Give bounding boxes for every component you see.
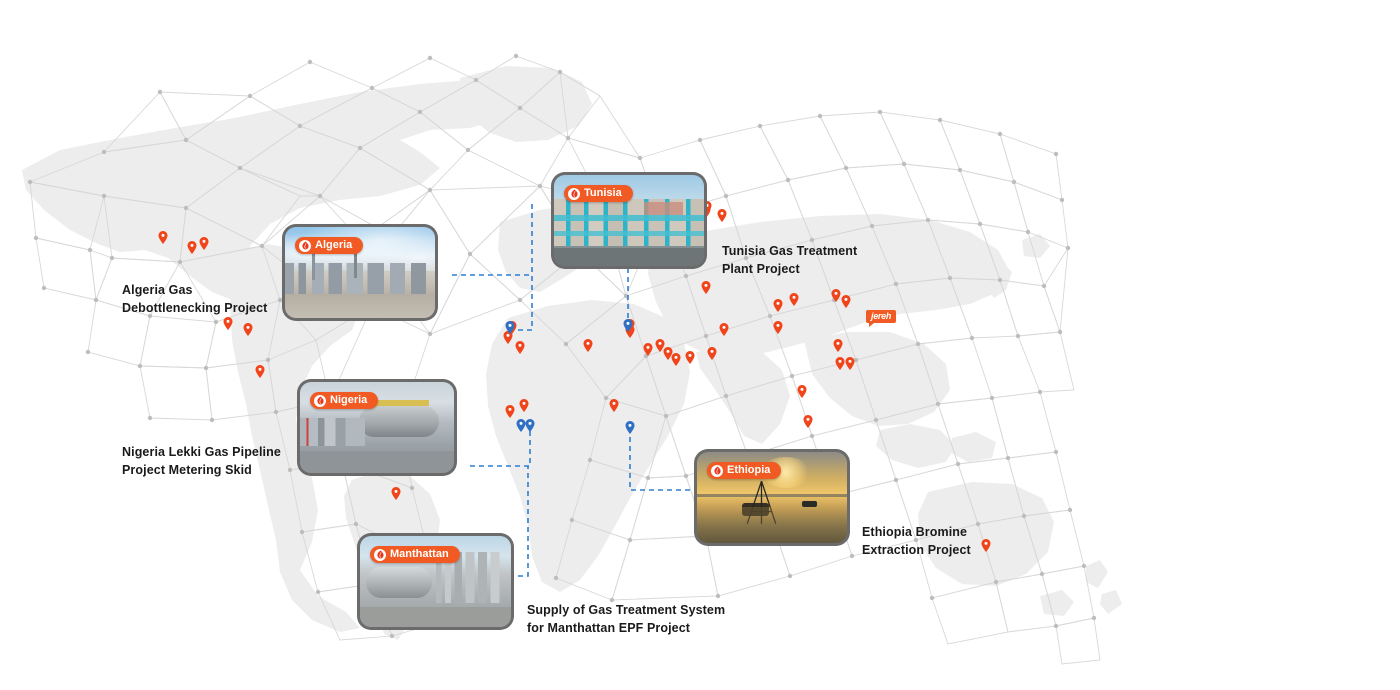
- map-pin-icon[interactable]: [790, 293, 799, 306]
- card-badge-manthattan: Manthattan: [370, 546, 460, 563]
- card-badge-label: Tunisia: [584, 188, 622, 199]
- map-pin-icon[interactable]: [702, 281, 711, 294]
- map-pin-icon-active[interactable]: [624, 319, 633, 332]
- photo-piping-detail: [300, 418, 365, 445]
- world-map-infographic: jereh Algeria Algeria Gas Debottleneckin…: [0, 0, 1400, 685]
- project-caption-manthattan: Supply of Gas Treatment System for Manth…: [527, 601, 757, 637]
- map-pin-icon[interactable]: [774, 321, 783, 334]
- photo-reflection-detail: [697, 507, 847, 543]
- card-badge-label: Algeria: [315, 240, 352, 251]
- jereh-logo-badge: jereh: [866, 310, 896, 323]
- map-pin-icon[interactable]: [506, 405, 515, 418]
- map-pin-icon[interactable]: [834, 339, 843, 352]
- map-pin-icon[interactable]: [516, 341, 525, 354]
- jereh-flame-icon: [299, 240, 311, 252]
- photo-ground-detail: [554, 248, 704, 266]
- world-map-svg: [0, 0, 1400, 685]
- map-pin-icon-active[interactable]: [526, 419, 535, 432]
- photo-pipe-run-detail: [554, 231, 704, 236]
- project-photo-algeria: Algeria: [285, 227, 435, 318]
- world-map-background: [0, 0, 1400, 685]
- jereh-logo-text: jereh: [871, 312, 891, 321]
- project-photo-ethiopia: Ethiopia: [697, 452, 847, 543]
- photo-building-detail: [644, 202, 683, 215]
- map-pin-icon-active[interactable]: [506, 321, 515, 334]
- map-pin-icon-active[interactable]: [626, 421, 635, 434]
- map-pin-icon[interactable]: [686, 351, 695, 364]
- map-pin-icon[interactable]: [832, 289, 841, 302]
- photo-ground-detail: [360, 607, 511, 627]
- jereh-flame-icon: [374, 549, 386, 561]
- map-pin-icon[interactable]: [584, 339, 593, 352]
- map-pin-icon[interactable]: [159, 231, 168, 244]
- map-pin-icon-active[interactable]: [517, 419, 526, 432]
- map-pin-icon[interactable]: [610, 399, 619, 412]
- map-pin-icon[interactable]: [200, 237, 209, 250]
- map-pin-icon[interactable]: [720, 323, 729, 336]
- map-pin-icon[interactable]: [644, 343, 653, 356]
- project-caption-nigeria: Nigeria Lekki Gas Pipeline Project Meter…: [122, 443, 322, 479]
- map-pin-icon[interactable]: [392, 487, 401, 500]
- card-badge-label: Manthattan: [390, 549, 449, 560]
- map-pin-icon[interactable]: [256, 365, 265, 378]
- map-pin-icon[interactable]: [224, 317, 233, 330]
- map-pin-icon[interactable]: [774, 299, 783, 312]
- project-card-algeria[interactable]: Algeria: [282, 224, 438, 321]
- project-photo-nigeria: Nigeria: [300, 382, 454, 473]
- map-pin-icon[interactable]: [842, 295, 851, 308]
- photo-plant-detail: [285, 263, 435, 294]
- jereh-flame-icon: [711, 465, 723, 477]
- jereh-flame-icon: [568, 188, 580, 200]
- card-badge-nigeria: Nigeria: [310, 392, 378, 409]
- project-photo-tunisia: Tunisia: [554, 175, 704, 266]
- map-pin-icon[interactable]: [188, 241, 197, 254]
- photo-ground-detail: [300, 451, 454, 473]
- photo-pipe-run-detail: [554, 215, 704, 221]
- map-pin-icon[interactable]: [520, 399, 529, 412]
- photo-vessel-detail: [359, 406, 439, 437]
- card-badge-ethiopia: Ethiopia: [707, 462, 781, 479]
- photo-exchanger-detail: [366, 567, 432, 598]
- map-pin-icon[interactable]: [846, 357, 855, 370]
- project-caption-ethiopia: Ethiopia Bromine Extraction Project: [862, 523, 1032, 559]
- map-pin-icon[interactable]: [718, 209, 727, 222]
- map-pin-icon[interactable]: [798, 385, 807, 398]
- card-badge-algeria: Algeria: [295, 237, 363, 254]
- project-card-ethiopia[interactable]: Ethiopia: [694, 449, 850, 546]
- project-caption-algeria: Algeria Gas Debottlenecking Project: [122, 281, 302, 317]
- map-pin-icon[interactable]: [244, 323, 253, 336]
- project-caption-tunisia: Tunisia Gas Treatment Plant Project: [722, 242, 912, 278]
- project-card-manthattan[interactable]: Manthattan: [357, 533, 514, 630]
- card-badge-tunisia: Tunisia: [564, 185, 633, 202]
- jereh-flame-icon: [314, 395, 326, 407]
- project-card-tunisia[interactable]: Tunisia: [551, 172, 707, 269]
- project-photo-manthattan: Manthattan: [360, 536, 511, 627]
- photo-ground-detail: [285, 294, 435, 318]
- map-pin-icon[interactable]: [672, 353, 681, 366]
- card-badge-label: Nigeria: [330, 395, 367, 406]
- map-pin-icon[interactable]: [804, 415, 813, 428]
- map-pin-icon[interactable]: [708, 347, 717, 360]
- map-pin-icon[interactable]: [836, 357, 845, 370]
- card-badge-label: Ethiopia: [727, 465, 770, 476]
